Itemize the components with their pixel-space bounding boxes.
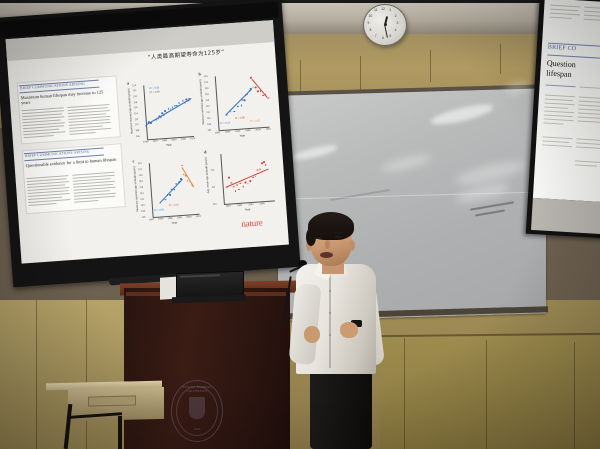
- doc-text-line: [584, 19, 600, 22]
- r-squared-annotation: R² = 0.14: [220, 121, 230, 125]
- doc-text-line: [579, 100, 600, 103]
- y-tick-label: 110: [135, 124, 139, 126]
- y-tick-label: 118: [205, 93, 209, 95]
- chart-panel-b: b106108110112114116118120122124196019701…: [198, 67, 273, 144]
- clock-numeral: 8: [366, 28, 374, 32]
- x-tick-label: 2000: [181, 138, 186, 140]
- x-tick-label: 1980: [235, 130, 240, 132]
- x-tick-label: 1980: [237, 204, 242, 206]
- wall-seam: [574, 342, 575, 449]
- y-axis: [220, 154, 224, 204]
- data-point: [265, 164, 267, 166]
- doc-text-line: [578, 120, 600, 123]
- y-tick-label: 118: [139, 180, 143, 182]
- data-point: [242, 186, 244, 188]
- y-tick-label: 122: [204, 81, 208, 83]
- wall-seam: [404, 338, 405, 449]
- doc-section-label: BRIEF CO: [548, 45, 577, 53]
- data-point: [238, 188, 240, 190]
- y-tick-label: 114: [134, 113, 138, 115]
- presenter-nose: [325, 240, 330, 249]
- seal-year-text: 1902: [172, 427, 222, 431]
- doc-text-line: [578, 108, 600, 111]
- doc-text-line: [576, 138, 600, 141]
- x-tick-label: 1960: [149, 219, 154, 221]
- wall-seam: [36, 300, 37, 449]
- presenter-sideburn: [306, 228, 316, 246]
- doc-text-line: [584, 7, 600, 10]
- trend-line: [225, 89, 251, 115]
- wall-seam: [86, 300, 87, 449]
- side-desk-drawer[interactable]: [88, 395, 136, 406]
- r-squared-annotation: R² = 0.88: [235, 116, 245, 120]
- x-tick-label: 2000: [255, 129, 260, 131]
- x-tick-label: 1980: [168, 217, 173, 219]
- x-tick-label: 1970: [153, 140, 158, 142]
- x-tick-label: 1980: [162, 139, 167, 141]
- data-point: [230, 111, 232, 113]
- clock-numeral: 9: [365, 21, 373, 25]
- r-squared-annotation: R² = 0.91: [154, 208, 164, 212]
- presenter-brow: [334, 232, 343, 234]
- secondary-display-base: [531, 198, 600, 234]
- clock-numeral: 4: [392, 28, 400, 32]
- y-tick-label: 106: [136, 136, 140, 138]
- x-axis-label: Year: [171, 220, 177, 224]
- data-point: [247, 183, 249, 185]
- y-axis-label: Maximum reported age at death (years): [199, 79, 205, 125]
- doc-text-line: [550, 5, 580, 8]
- y-tick-label: 120: [133, 96, 137, 98]
- x-tick-label: 2010: [196, 215, 201, 217]
- y-tick-label: 106: [208, 129, 212, 131]
- clock-numeral: 11: [372, 8, 380, 12]
- clock-numeral: 2: [392, 14, 400, 18]
- x-tick-label: 1990: [245, 129, 250, 131]
- y-tick-label: 122: [138, 168, 142, 170]
- doc-title-line-2: lifespan: [546, 69, 572, 80]
- x-tick-label: 1970: [225, 131, 230, 133]
- y-tick-label: 112: [210, 170, 214, 172]
- y-tick-label: 114: [140, 192, 144, 194]
- data-point: [240, 183, 242, 185]
- data-point: [165, 199, 167, 201]
- data-point: [257, 169, 259, 171]
- chart-panel-a: a106108110112114116118120122124196019701…: [127, 76, 198, 153]
- doc-text-line: [550, 9, 578, 12]
- data-point: [167, 108, 169, 110]
- y-tick-label: 116: [134, 107, 138, 109]
- y-tick-label: 111: [212, 186, 216, 188]
- doc-text-line: [576, 146, 600, 149]
- secondary-display[interactable]: BRIEF CO Question lifespan: [525, 0, 600, 249]
- university-seal: BEIJING NORMAL UNIVERSITY 1902: [171, 380, 223, 442]
- x-tick-label: 2000: [260, 203, 265, 205]
- clock-hour-hand: [384, 16, 388, 25]
- x-tick-label: 1960: [215, 132, 220, 134]
- doc-text-line: [575, 164, 597, 166]
- trend-line: [182, 167, 194, 187]
- y-axis-label: Avg. mean age at death (years): [204, 157, 210, 193]
- r-squared-annotation: R² = 0.42: [169, 203, 179, 207]
- doc-text-line: [542, 140, 569, 143]
- doc-text-line: [542, 136, 572, 139]
- trend-line: [159, 179, 182, 203]
- y-axis: [149, 163, 154, 217]
- right-wall-panel: [380, 336, 600, 449]
- data-point: [262, 95, 264, 97]
- x-tick-label: 2010: [190, 137, 195, 139]
- y-tick-label: 120: [139, 174, 143, 176]
- doc-text-line: [544, 106, 568, 108]
- data-point: [237, 106, 239, 108]
- data-point: [241, 105, 243, 107]
- data-point: [263, 161, 265, 163]
- data-point: [243, 99, 245, 101]
- y-axis-label: Maximum reported age at death (years): [133, 166, 139, 212]
- doc-text-line: [584, 15, 600, 18]
- x-tick-label: 2000: [186, 216, 191, 218]
- y-axis: [215, 76, 220, 130]
- doc-text-line: [544, 114, 573, 117]
- projection-screen[interactable]: “人类最高期望寿命为125岁” BRIEF COMMUNICATIONS ARI…: [0, 0, 301, 292]
- data-point: [160, 116, 162, 118]
- y-tick-label: 110: [207, 117, 211, 119]
- panel-letter: b: [198, 71, 201, 76]
- seal-top-text: BEIJING NORMAL UNIVERSITY: [172, 385, 222, 393]
- doc-text-line: [575, 160, 600, 163]
- data-point: [236, 184, 238, 186]
- y-tick-label: 116: [205, 99, 209, 101]
- wall-seam: [360, 56, 361, 90]
- doc-text-line: [578, 112, 600, 115]
- doc-text-line: [579, 96, 600, 99]
- y-tick-label: 120: [205, 87, 209, 89]
- wall-seam: [486, 340, 487, 449]
- wall-clock: 121234567891011: [363, 4, 407, 46]
- doc-text-line: [580, 87, 600, 90]
- x-tick-label: 1990: [248, 203, 253, 205]
- y-axis: [143, 85, 148, 139]
- data-point: [255, 175, 257, 177]
- data-point: [249, 180, 251, 182]
- y-tick-label: 114: [206, 105, 210, 107]
- doc-text-line: [550, 17, 572, 19]
- doc-text-line: [576, 142, 600, 144]
- panel-letter: c: [132, 158, 134, 163]
- x-tick-label: 2010: [266, 128, 271, 130]
- doc-text-line: [578, 116, 600, 118]
- y-tick-label: 108: [207, 123, 211, 125]
- y-tick-label: 116: [139, 186, 143, 188]
- presenter-left-hand: [304, 326, 320, 343]
- data-point: [233, 186, 235, 188]
- data-point: [247, 94, 249, 96]
- doc-text-line: [546, 84, 576, 87]
- y-tick-label: 118: [133, 102, 137, 104]
- data-point: [228, 177, 230, 179]
- data-point: [235, 190, 237, 192]
- doc-text-line: [543, 122, 563, 124]
- doc-text-line: [542, 144, 572, 147]
- data-point: [259, 169, 261, 171]
- y-tick-label: 112: [135, 119, 139, 121]
- data-point: [244, 181, 246, 183]
- y-tick-label: 108: [141, 210, 145, 212]
- shirt-placket: [329, 272, 331, 368]
- chart-panel-c: c106108110112114116118120122124196019701…: [132, 154, 203, 231]
- doc-text-line: [544, 110, 574, 113]
- y-tick-label: 124: [138, 162, 142, 164]
- clock-numeral: 3: [394, 21, 402, 25]
- y-tick-label: 110: [141, 204, 145, 206]
- y-tick-label: 108: [135, 130, 139, 132]
- x-tick-label: 1990: [171, 139, 176, 141]
- doc-text-line: [550, 13, 580, 16]
- y-tick-label: 112: [140, 198, 144, 200]
- presenter-mouth: [320, 252, 333, 258]
- panel-letter: a: [127, 81, 129, 86]
- seal-shield: [189, 397, 205, 419]
- trend-line: [226, 169, 268, 188]
- r-squared-annotation: R² = 0.53: [250, 119, 260, 123]
- data-point: [169, 194, 171, 196]
- doc-text-line: [584, 11, 600, 14]
- y-tick-label: 124: [132, 85, 136, 87]
- doc-text-line: [545, 98, 573, 101]
- presenter-brow: [315, 233, 324, 235]
- presenter-right-hand: [340, 322, 358, 338]
- nature-logo: nature: [241, 217, 263, 228]
- lecture-hall-photo: 121234567891011 “人类最高期望寿命为125岁” BRIEF CO…: [0, 0, 600, 449]
- doc-text-line: [545, 94, 575, 97]
- clock-numeral: 7: [372, 34, 380, 38]
- x-tick-label: 1990: [177, 217, 182, 219]
- secondary-display-canvas: BRIEF CO Question lifespan: [533, 0, 600, 202]
- y-tick-label: 110: [213, 203, 217, 205]
- presenter-ear: [349, 240, 355, 251]
- clock-numeral: 10: [366, 14, 374, 18]
- y-tick-label: 112: [206, 111, 210, 113]
- y-tick-label: 122: [133, 90, 137, 92]
- trend-line: [146, 98, 192, 125]
- slide-canvas: “人类最高期望寿命为125岁” BRIEF COMMUNICATIONS ARI…: [6, 20, 289, 264]
- ceiling-shadow: [0, 0, 600, 3]
- chart-panel-d: d1101111121970198019902000Avg. mean age …: [204, 144, 279, 217]
- y-tick-label: 106: [142, 216, 146, 218]
- x-axis-label: Year: [166, 143, 172, 147]
- doc-text-line: [545, 102, 575, 105]
- doc-text-line: [544, 118, 574, 121]
- data-point: [234, 111, 236, 113]
- x-tick-label: 1960: [143, 141, 148, 143]
- data-point: [252, 177, 254, 179]
- x-tick-label: 1970: [158, 218, 163, 220]
- x-axis-label: Year: [239, 133, 245, 137]
- r-squared-annotation: R² = 0.39: [150, 90, 160, 94]
- data-point: [257, 91, 259, 93]
- presenter-trousers: [310, 366, 372, 449]
- x-tick-label: 1970: [226, 205, 231, 207]
- data-point: [255, 87, 257, 89]
- y-tick-label: 124: [204, 75, 208, 77]
- side-desk-leg: [118, 416, 122, 449]
- clock-numeral: 1: [386, 8, 394, 12]
- doc-text-line: [578, 104, 600, 107]
- wall-seam: [430, 50, 431, 82]
- wall-seam: [500, 44, 501, 74]
- x-axis-label: Year: [245, 207, 251, 211]
- panel-letter: d: [204, 149, 207, 154]
